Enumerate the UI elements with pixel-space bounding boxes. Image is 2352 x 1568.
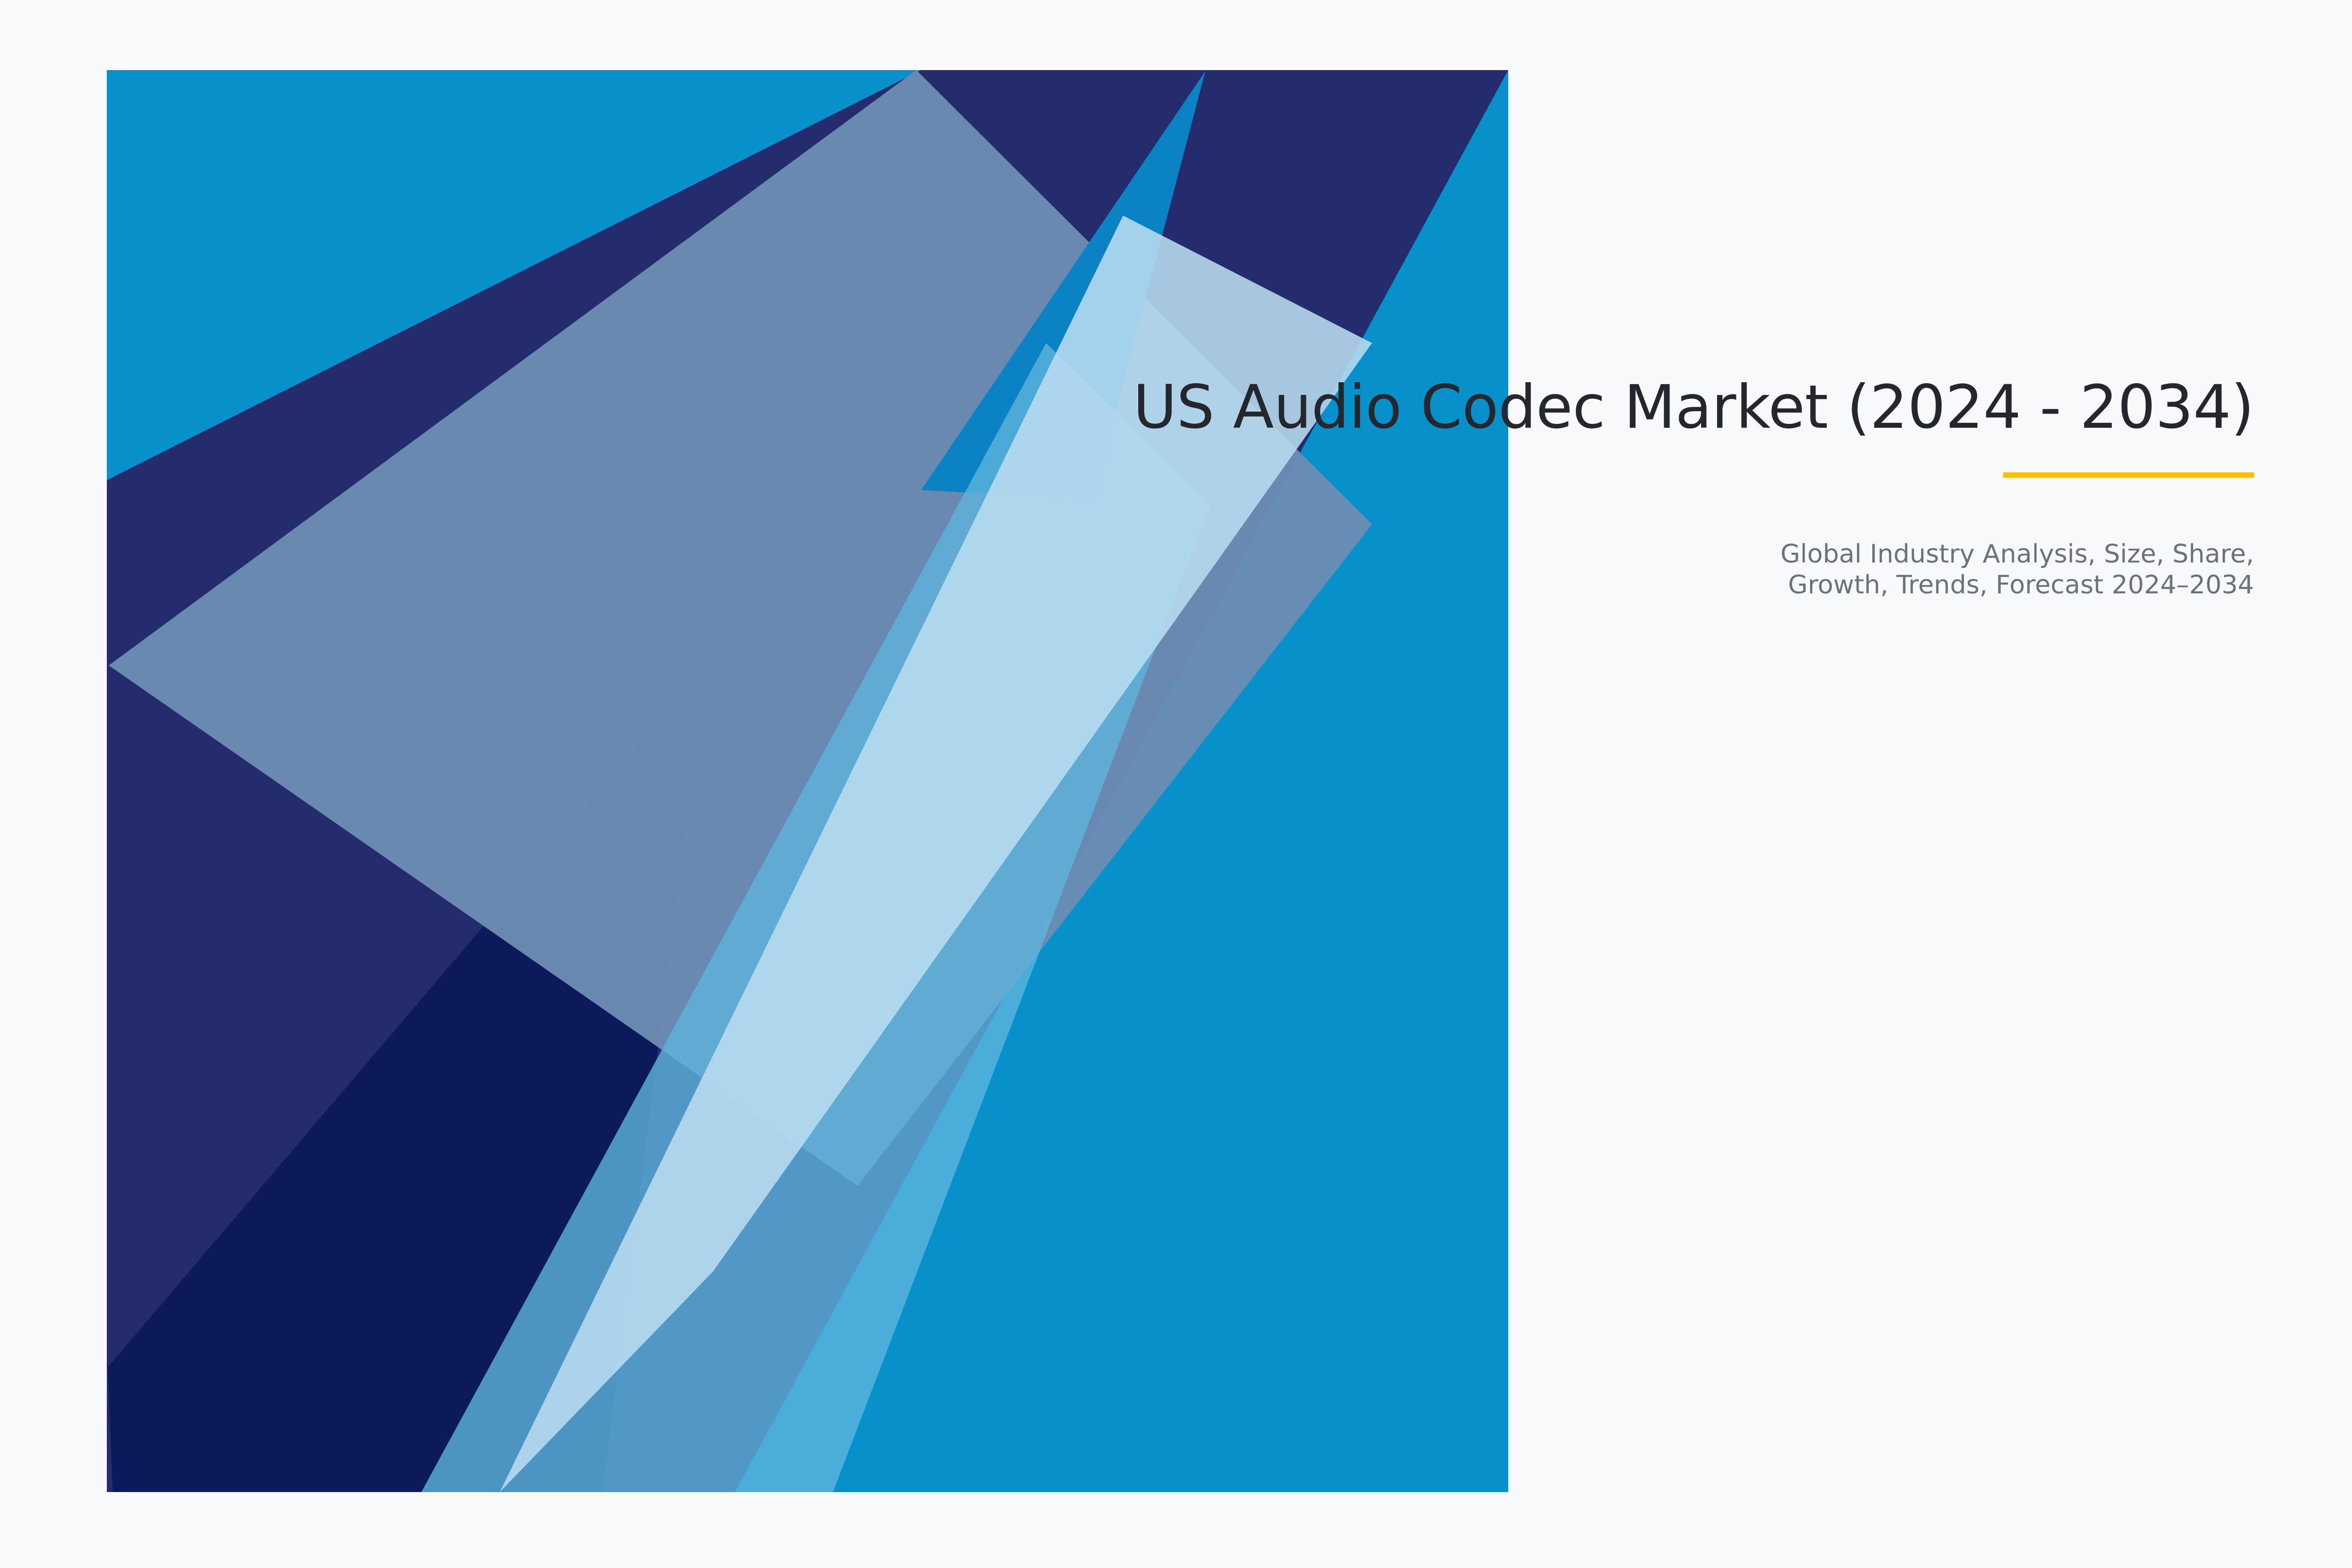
page-subtitle: Global Industry Analysis, Size, Share, G…	[735, 539, 2254, 601]
accent-rule-container	[735, 472, 2254, 478]
page-title: US Audio Codec Market (2024 - 2034)	[735, 372, 2254, 443]
abstract-geometric-artwork	[0, 0, 2352, 1568]
accent-divider	[2003, 472, 2254, 478]
cover-page: US Audio Codec Market (2024 - 2034) Glob…	[0, 0, 2352, 1568]
title-block: US Audio Codec Market (2024 - 2034) Glob…	[735, 372, 2254, 601]
